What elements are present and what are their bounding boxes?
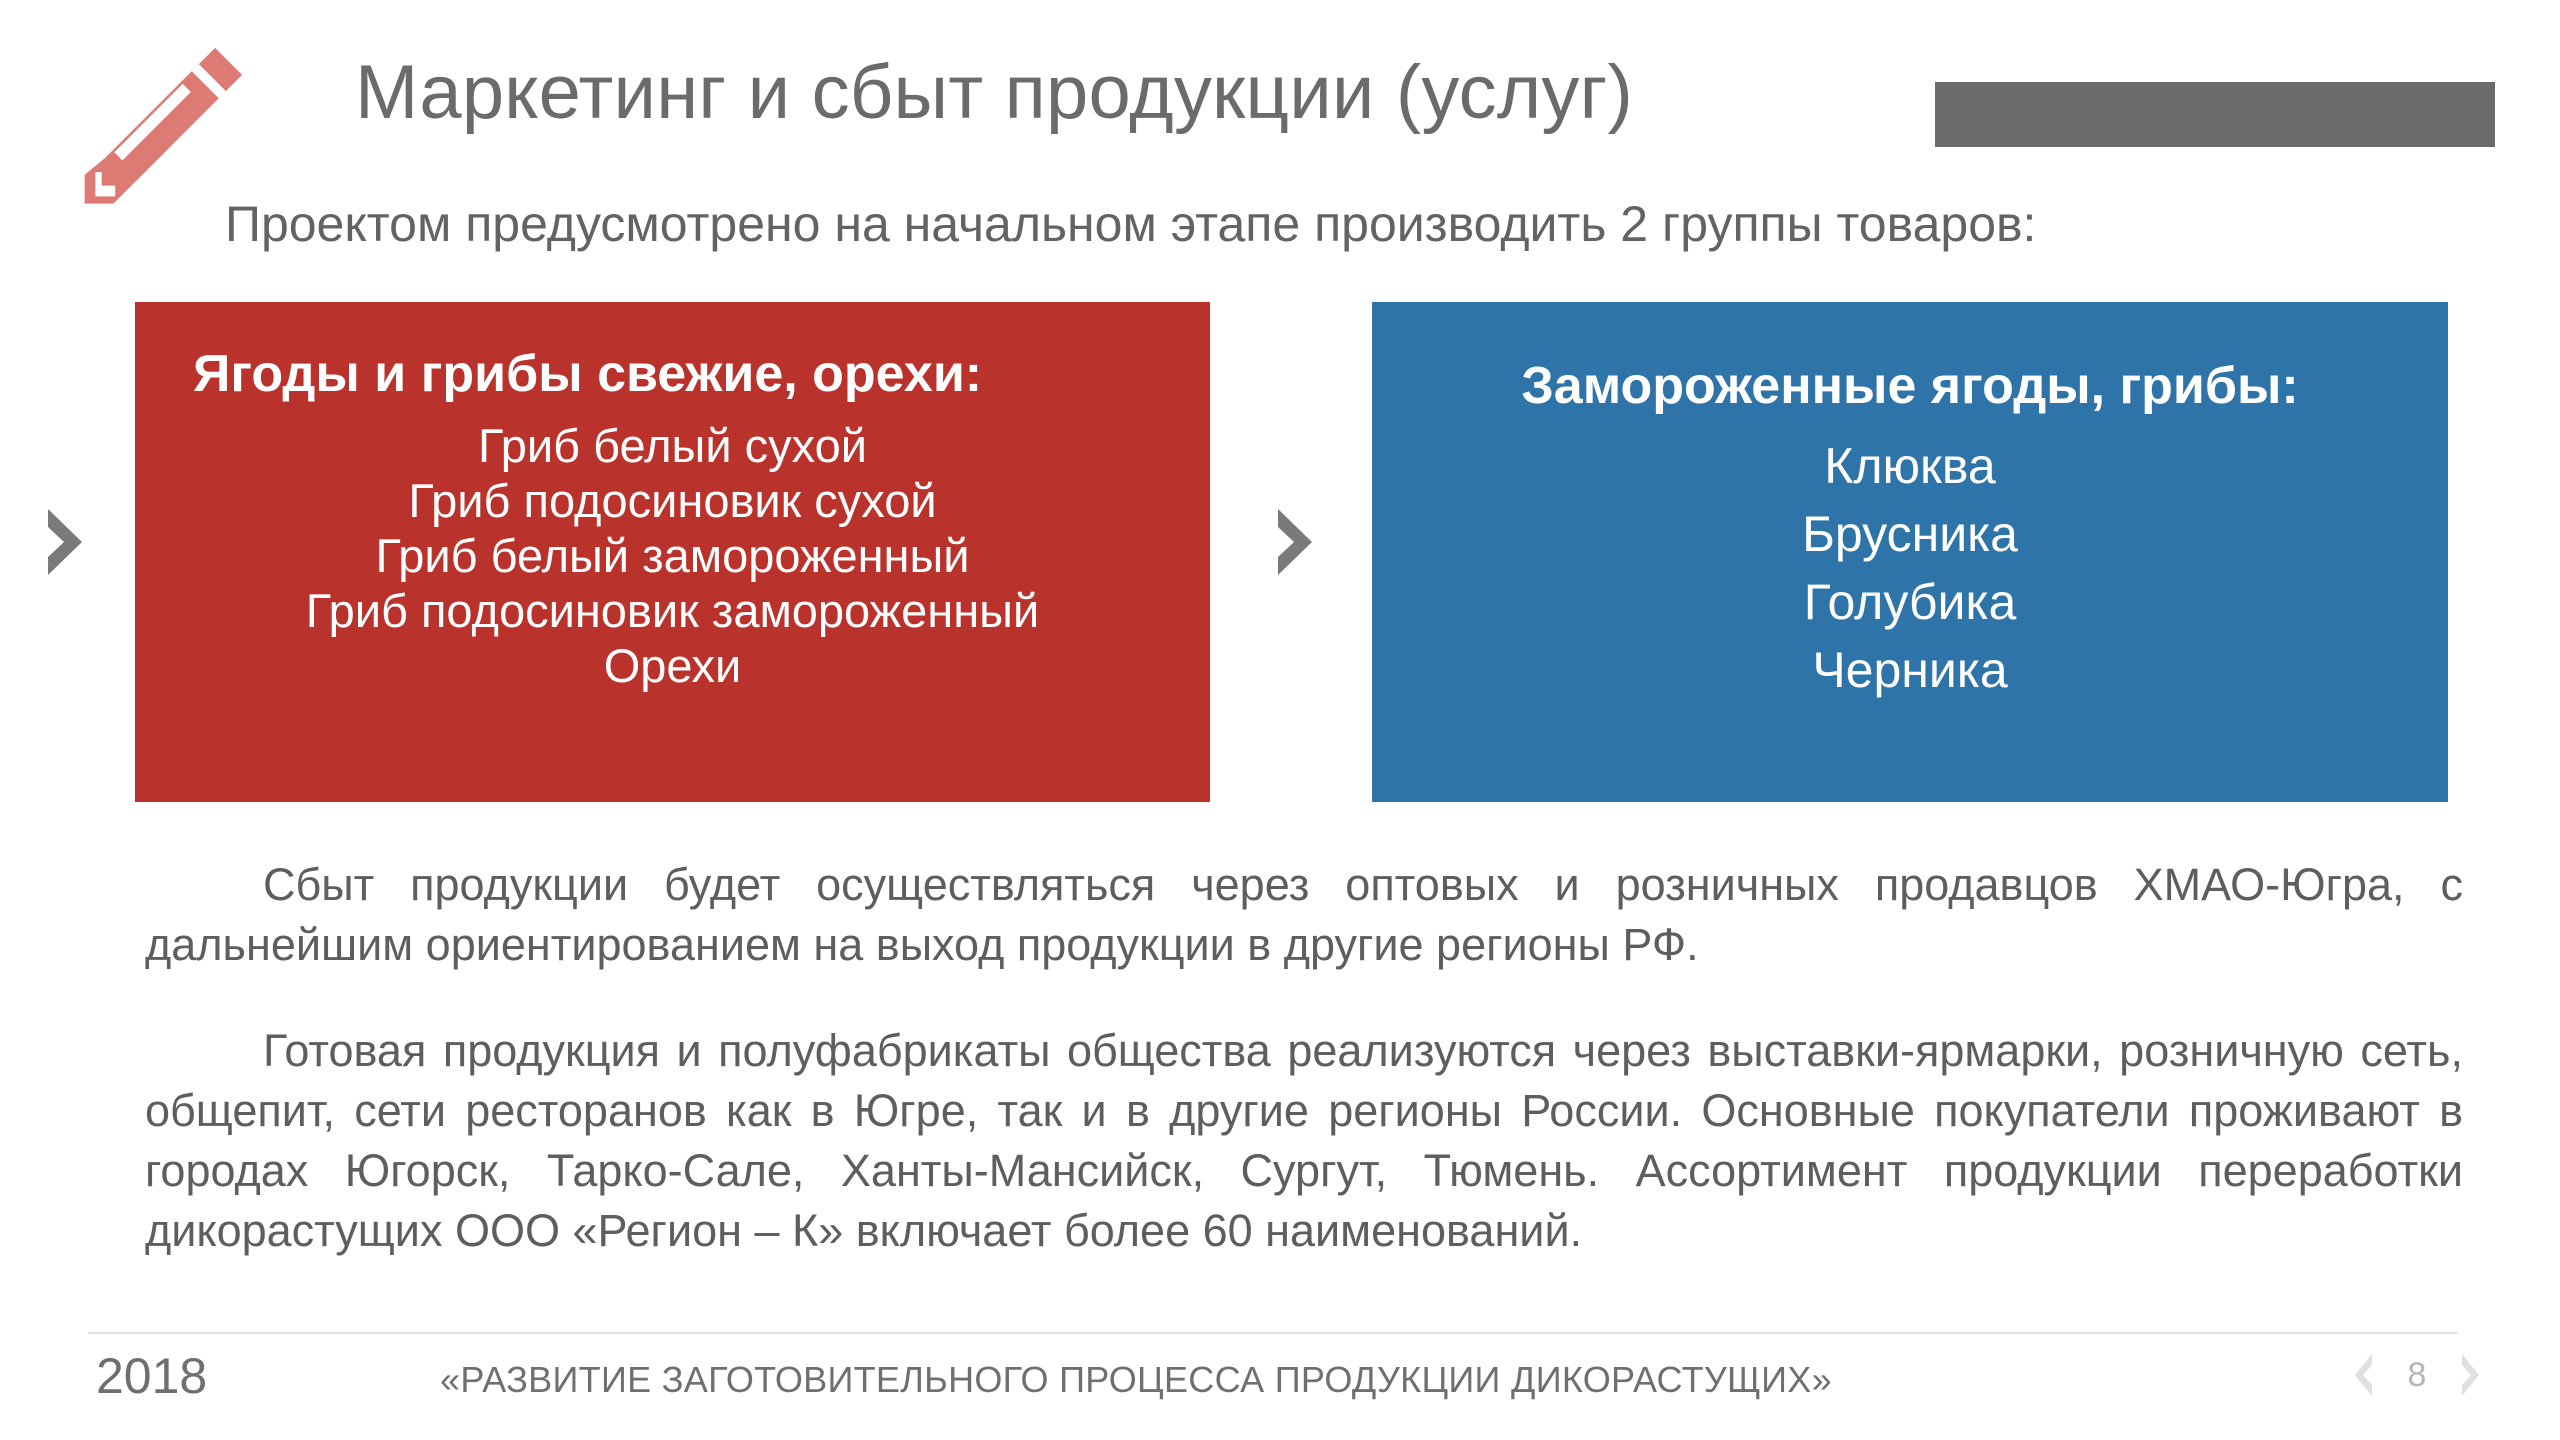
title-accent-bar xyxy=(1935,82,2495,147)
list-item: Брусника xyxy=(1392,500,2428,568)
slide: Маркетинг и сбыт продукции (услуг) Проек… xyxy=(0,0,2560,1440)
list-item: Гриб подосиновик замороженный xyxy=(155,585,1190,637)
list-item: Орехи xyxy=(155,640,1190,692)
chevron-right-icon xyxy=(42,505,88,579)
chevron-right-icon[interactable] xyxy=(2456,1352,2482,1398)
list-item: Черника xyxy=(1392,636,2428,704)
list-item: Голубика xyxy=(1392,568,2428,636)
category-box-fresh: Ягоды и грибы свежие, орехи: Гриб белый … xyxy=(135,302,1210,802)
category-box-frozen: Замороженные ягоды, грибы: Клюква Брусни… xyxy=(1372,302,2448,802)
footer-divider xyxy=(88,1332,2458,1334)
category-heading: Замороженные ягоды, грибы: xyxy=(1392,354,2428,418)
paragraph-sales-channels: Сбыт продукции будет осуществляться чере… xyxy=(145,855,2463,975)
list-item: Гриб белый замороженный xyxy=(155,530,1190,582)
category-item-list: Клюква Брусника Голубика Черника xyxy=(1392,432,2428,704)
slide-pager: 8 xyxy=(2352,1352,2482,1398)
page-title: Маркетинг и сбыт продукции (услуг) xyxy=(355,38,1875,148)
category-heading: Ягоды и грибы свежие, орехи: xyxy=(155,342,1190,406)
chevron-left-icon[interactable] xyxy=(2352,1352,2378,1398)
body-copy: Сбыт продукции будет осуществляться чере… xyxy=(145,855,2463,1261)
category-item-list: Гриб белый сухой Гриб подосиновик сухой … xyxy=(155,420,1190,692)
pencil-icon xyxy=(72,38,252,218)
page-number: 8 xyxy=(2404,1352,2430,1398)
footer-year: 2018 xyxy=(96,1345,207,1407)
list-item: Гриб подосиновик сухой xyxy=(155,475,1190,527)
subtitle: Проектом предусмотрено на начальном этап… xyxy=(225,193,2485,255)
list-item: Клюква xyxy=(1392,432,2428,500)
footer-caption: «РАЗВИТИЕ ЗАГОТОВИТЕЛЬНОГО ПРОЦЕССА ПРОД… xyxy=(440,1355,1832,1405)
chevron-right-icon xyxy=(1272,505,1318,579)
list-item: Гриб белый сухой xyxy=(155,420,1190,472)
paragraph-distribution: Готовая продукция и полуфабрикаты общест… xyxy=(145,1021,2463,1261)
